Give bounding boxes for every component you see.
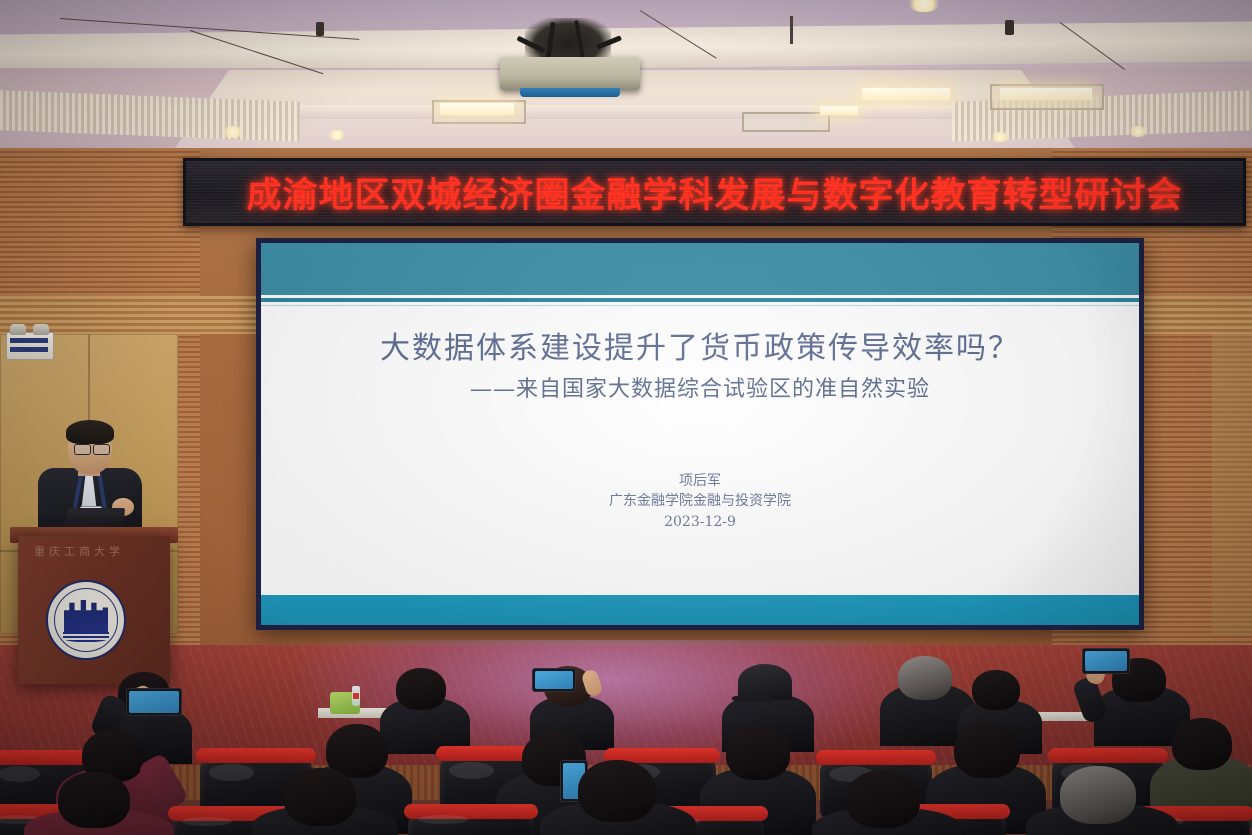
slide-footer-band: [261, 595, 1139, 625]
audience-cap: [738, 664, 792, 700]
audience-head: [578, 760, 656, 822]
ceiling-downlight: [906, 0, 942, 12]
water-bottle: [352, 686, 360, 706]
audience-phone: [532, 668, 576, 692]
ceiling-panel-light: [1000, 88, 1092, 100]
audience-head: [58, 772, 130, 828]
ceiling-downlight: [990, 132, 1010, 142]
audience-head: [726, 726, 790, 780]
speaker-glasses: [93, 444, 110, 455]
ceiling-speaker-icon: [316, 22, 324, 36]
ceiling-panel-light: [820, 106, 858, 115]
audience: [0, 660, 1252, 835]
ceiling-downlight: [1128, 126, 1148, 137]
audience-head: [396, 668, 446, 710]
slide-date: 2023-12-9: [261, 512, 1139, 532]
banner-title-text: 成渝地区双城经济圈金融学科发展与数字化教育转型研讨会: [246, 167, 1182, 218]
projector-lens: [520, 88, 620, 97]
ceiling-downlight: [222, 126, 244, 138]
slide-header-rule: [261, 298, 1139, 302]
audience-head: [1172, 718, 1232, 770]
audience-head: [898, 656, 952, 700]
slide-subtitle: ——来自国家大数据综合试验区的准自然实验: [261, 371, 1139, 403]
projection-screen: 大数据体系建设提升了货币政策传导效率吗？ ——来自国家大数据综合试验区的准自然实…: [261, 243, 1139, 625]
ceiling-panel-light: [862, 88, 950, 100]
auditorium-seat: [408, 810, 534, 835]
slide-author: 项后军: [261, 471, 1139, 491]
slide-header-rule-thin: [261, 305, 1139, 306]
audience-head: [284, 768, 356, 826]
audience-head: [1060, 766, 1136, 824]
acoustic-panel-right: [1212, 334, 1252, 634]
speaker-glasses: [74, 444, 91, 455]
ceiling-light-frame: [742, 112, 830, 132]
event-banner: 成渝地区双城经济圈金融学科发展与数字化教育转型研讨会: [183, 158, 1246, 226]
ceiling-wire: [790, 16, 793, 44]
audience-head: [846, 770, 920, 828]
speaker-hair: [66, 420, 114, 444]
university-crest-icon: [46, 580, 126, 660]
slide-author-block: 项后军 广东金融学院金融与投资学院 2023-12-9: [261, 471, 1139, 532]
ceiling-panel-light: [440, 103, 514, 115]
auditorium-photo: 成渝地区双城经济圈金融学科发展与数字化教育转型研讨会 大数据体系建设提升了货币政…: [0, 0, 1252, 835]
emergency-light: [6, 332, 54, 360]
slide-header-band: [261, 243, 1139, 295]
ceiling-downlight: [328, 130, 346, 140]
slide-affiliation: 广东金融学院金融与投资学院: [261, 491, 1139, 511]
projection-screen-frame: 大数据体系建设提升了货币政策传导效率吗？ ——来自国家大数据综合试验区的准自然实…: [256, 238, 1144, 630]
slide-title: 大数据体系建设提升了货币政策传导效率吗？: [261, 323, 1139, 367]
podium-engraving: 重庆工商大学: [34, 543, 154, 557]
ceiling-projector: [500, 57, 640, 90]
audience-phone: [126, 688, 182, 716]
audience-phone: [1082, 648, 1130, 674]
audience-head: [954, 722, 1020, 778]
ceiling-speaker-icon: [1005, 20, 1014, 35]
audience-head: [972, 670, 1020, 710]
projector-mount: [525, 18, 611, 60]
